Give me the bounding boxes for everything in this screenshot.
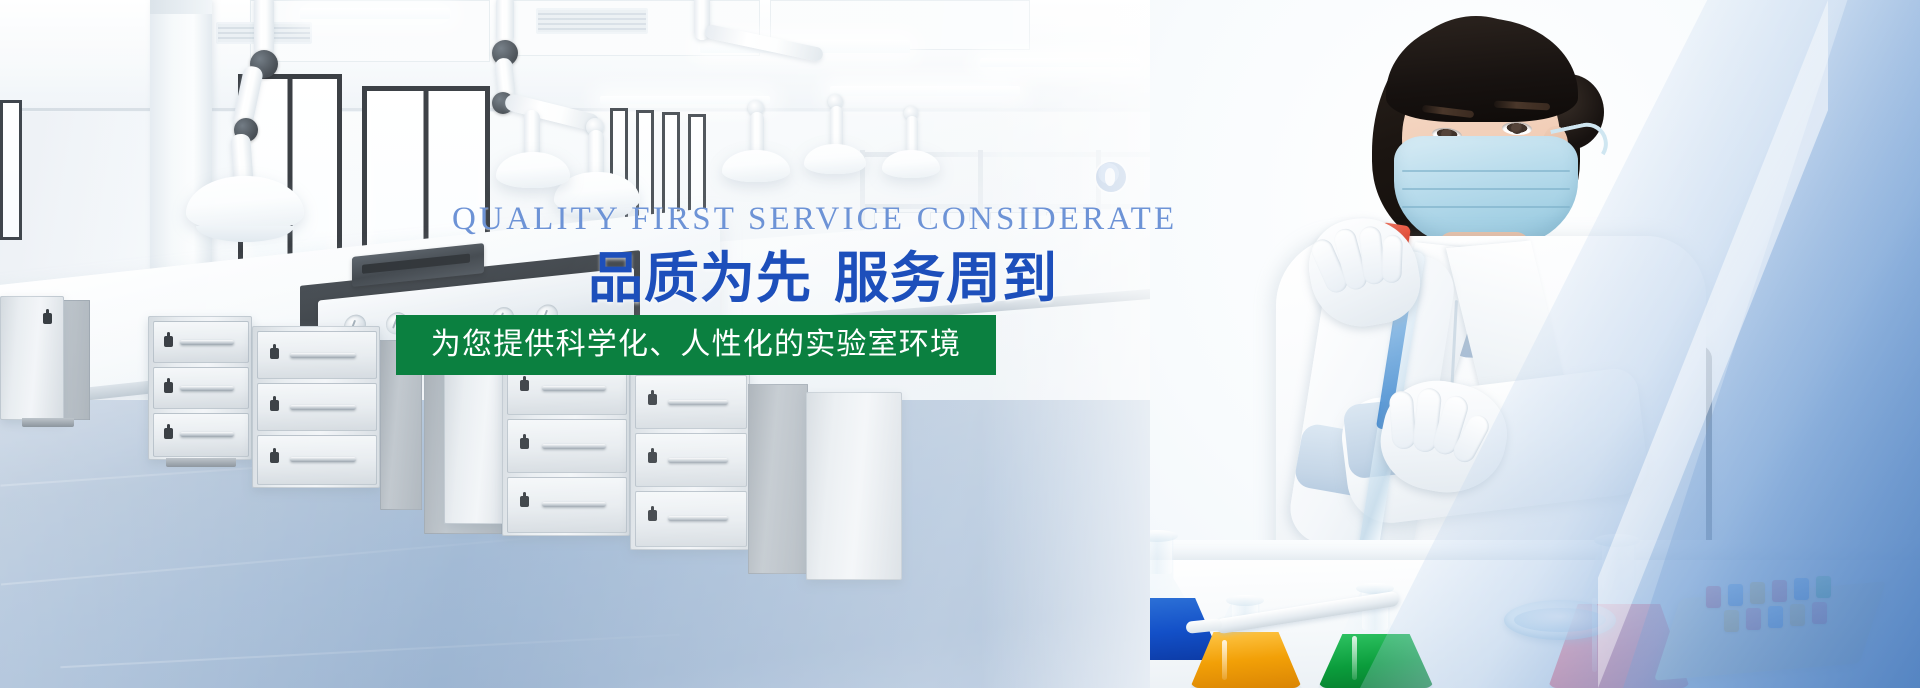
- cabinet-door: [806, 392, 902, 580]
- drawer: [635, 375, 747, 429]
- extraction-hood: [496, 152, 570, 188]
- banner-eyebrow-english: QUALITY FIRST SERVICE CONSIDERATE: [452, 200, 1042, 238]
- drawer-lock-icon: [164, 382, 173, 393]
- cabinet-foot: [166, 458, 236, 467]
- cabinet-drawer-unit: [502, 356, 630, 536]
- drawer: [257, 435, 377, 485]
- headline-part-quality: 品质为先: [588, 247, 812, 309]
- extraction-hood: [722, 150, 790, 182]
- drawer: [257, 383, 377, 431]
- rack-tube: [1790, 604, 1805, 626]
- cabinet-side-panel: [748, 384, 808, 574]
- rack-tube: [1706, 586, 1721, 608]
- flask-rim: [1226, 595, 1264, 606]
- drawer-handle: [290, 353, 356, 358]
- extraction-hood-lip: [196, 226, 294, 242]
- drawer: [153, 367, 249, 409]
- drawer: [507, 477, 627, 533]
- drawer-handle: [542, 386, 606, 391]
- mask-pleat: [1402, 206, 1570, 208]
- drawer-lock-icon: [270, 452, 279, 463]
- rack-tube: [1812, 602, 1827, 624]
- drawer-handle: [290, 457, 356, 462]
- drawer: [507, 419, 627, 473]
- drawer-lock-icon: [520, 438, 529, 449]
- drawer: [153, 321, 249, 363]
- flask-liquid: [1190, 632, 1302, 688]
- rack-tube: [1746, 608, 1761, 630]
- drawer-lock-icon: [648, 510, 657, 521]
- flask-rim: [1594, 534, 1640, 547]
- rack-tube: [1750, 582, 1765, 604]
- cabinet-drawer-unit: [630, 370, 750, 550]
- cabinet: [0, 296, 64, 420]
- drawer-handle: [668, 400, 728, 405]
- drawer: [635, 433, 747, 487]
- headline-part-service: 服务周到: [834, 247, 1058, 309]
- rack-tube: [1728, 584, 1743, 606]
- glove-finger: [1381, 235, 1403, 284]
- drawer-lock-icon: [520, 380, 529, 391]
- petri-dish-inner: [1514, 608, 1606, 632]
- flask-liquid: [1318, 634, 1434, 688]
- hero-banner: QUALITY FIRST SERVICE CONSIDERATE 品质为先服务…: [0, 0, 1920, 688]
- drawer-handle: [668, 516, 728, 521]
- flask-rim: [1150, 530, 1178, 542]
- rack-tube: [1772, 580, 1787, 602]
- banner-subtitle-text: 为您提供科学化、人性化的实验室环境: [431, 328, 961, 362]
- cabinet-foot: [22, 418, 74, 427]
- scientist-photo: [1150, 0, 1920, 688]
- drawer: [635, 491, 747, 547]
- drawer-lock-icon: [648, 452, 657, 463]
- drawer-handle: [542, 502, 606, 507]
- drawer: [257, 331, 377, 379]
- drawer-lock-icon: [164, 336, 173, 347]
- flask-highlight: [1222, 640, 1227, 680]
- drawer-handle: [180, 432, 234, 437]
- drawer-lock-icon: [648, 394, 657, 405]
- drawer-lock-icon: [164, 428, 173, 439]
- flask-highlight: [1352, 636, 1357, 680]
- drawer-handle: [542, 444, 606, 449]
- petri-dish: [1504, 600, 1616, 640]
- drawer-lock-icon: [270, 400, 279, 411]
- drawer-handle: [668, 458, 728, 463]
- extraction-hood: [804, 144, 866, 174]
- drawer: [153, 413, 249, 457]
- cabinet-lock-icon: [43, 313, 52, 324]
- drawer-handle: [180, 386, 234, 391]
- rack-tube: [1768, 606, 1783, 628]
- drawer-lock-icon: [520, 496, 529, 507]
- rack-tube: [1816, 576, 1831, 598]
- drawer-lock-icon: [270, 348, 279, 359]
- banner-subtitle-bar: 为您提供科学化、人性化的实验室环境: [396, 315, 996, 375]
- cabinet-drawer-unit: [252, 326, 380, 488]
- cabinet-drawer-unit: [148, 316, 252, 460]
- banner-headline: 品质为先服务周到: [588, 247, 1058, 309]
- arm-segment: [704, 24, 824, 63]
- rack-tube: [1794, 578, 1809, 600]
- drawer-handle: [290, 405, 356, 410]
- mask-pleat: [1402, 188, 1570, 190]
- rack-tube: [1724, 610, 1739, 632]
- mask-pleat: [1402, 170, 1570, 172]
- extraction-hood: [882, 150, 940, 178]
- extraction-hood: [186, 176, 304, 232]
- drawer-handle: [180, 340, 234, 345]
